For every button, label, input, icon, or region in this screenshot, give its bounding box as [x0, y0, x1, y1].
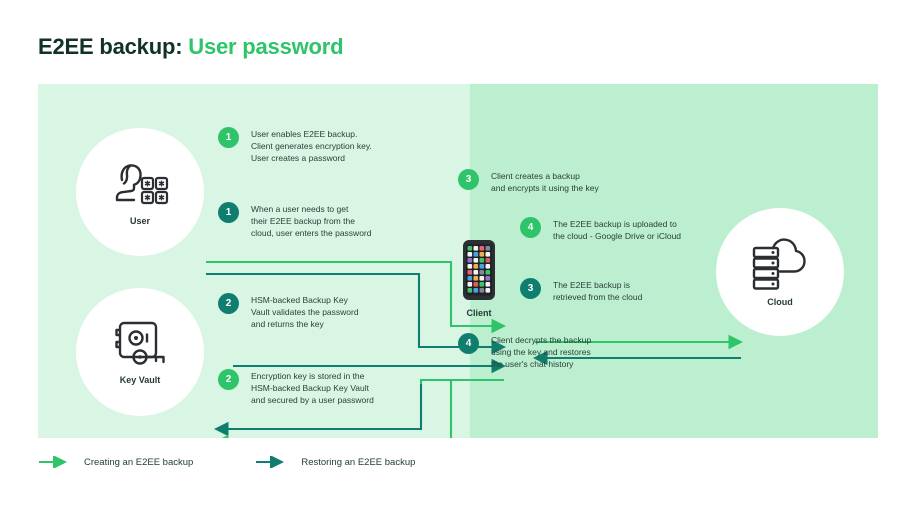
step-create-4-text: The E2EE backup is uploaded to the cloud…: [553, 217, 681, 242]
node-key-vault-label: Key Vault: [120, 375, 161, 385]
node-user-label: User: [130, 216, 150, 226]
step-create-2-text: Encryption key is stored in the HSM-back…: [251, 369, 374, 406]
node-cloud-label: Cloud: [767, 297, 793, 307]
safe-key-icon: [111, 319, 169, 369]
step-create-4: 4 The E2EE backup is uploaded to the clo…: [520, 217, 735, 242]
page-title-accent: User password: [188, 34, 343, 59]
step-restore-1-badge: 1: [218, 202, 239, 223]
step-restore-4-text: Client decrypts the backup using the key…: [491, 333, 591, 370]
step-create-2-badge: 2: [218, 369, 239, 390]
step-restore-1: 1 When a user needs to get their E2EE ba…: [218, 202, 418, 239]
step-create-1: 1 User enables E2EE backup. Client gener…: [218, 127, 408, 164]
page-title-main: E2EE backup:: [38, 34, 182, 59]
legend-item-restoring: Restoring an E2EE backup: [255, 456, 415, 468]
step-restore-3: 3 The E2EE backup is retrieved from the …: [520, 278, 720, 303]
legend-arrow-green-icon: [38, 456, 72, 468]
node-client[interactable]: Client: [453, 239, 505, 323]
step-create-1-badge: 1: [218, 127, 239, 148]
page-title: E2EE backup: User password: [38, 34, 343, 60]
step-create-2: 2 Encryption key is stored in the HSM-ba…: [218, 369, 418, 406]
step-restore-1-text: When a user needs to get their E2EE back…: [251, 202, 371, 239]
step-create-3-badge: 3: [458, 169, 479, 190]
step-create-1-text: User enables E2EE backup. Client generat…: [251, 127, 372, 164]
step-create-3: 3 Client creates a backup and encrypts i…: [458, 169, 648, 194]
legend-label-restoring: Restoring an E2EE backup: [301, 457, 415, 468]
smartphone-icon: [462, 239, 496, 301]
node-cloud[interactable]: Cloud: [716, 208, 844, 336]
step-restore-4-badge: 4: [458, 333, 479, 354]
step-restore-3-text: The E2EE backup is retrieved from the cl…: [553, 278, 642, 303]
node-client-label: Client: [466, 308, 491, 318]
step-restore-2: 2 HSM-backed Backup Key Vault validates …: [218, 293, 413, 330]
legend-label-creating: Creating an E2EE backup: [84, 457, 193, 468]
user-password-icon: [110, 158, 170, 210]
step-restore-3-badge: 3: [520, 278, 541, 299]
step-restore-2-text: HSM-backed Backup Key Vault validates th…: [251, 293, 359, 330]
step-create-4-badge: 4: [520, 217, 541, 238]
legend-arrow-teal-icon: [255, 456, 289, 468]
node-key-vault[interactable]: Key Vault: [76, 288, 204, 416]
diagram-canvas: User Key Vault: [38, 84, 878, 438]
node-user[interactable]: User: [76, 128, 204, 256]
step-restore-4: 4 Client decrypts the backup using the k…: [458, 333, 653, 370]
step-restore-2-badge: 2: [218, 293, 239, 314]
cloud-server-icon: [749, 237, 811, 291]
legend-item-creating: Creating an E2EE backup: [38, 456, 193, 468]
legend: Creating an E2EE backup Restoring an E2E…: [38, 456, 415, 468]
step-create-3-text: Client creates a backup and encrypts it …: [491, 169, 599, 194]
